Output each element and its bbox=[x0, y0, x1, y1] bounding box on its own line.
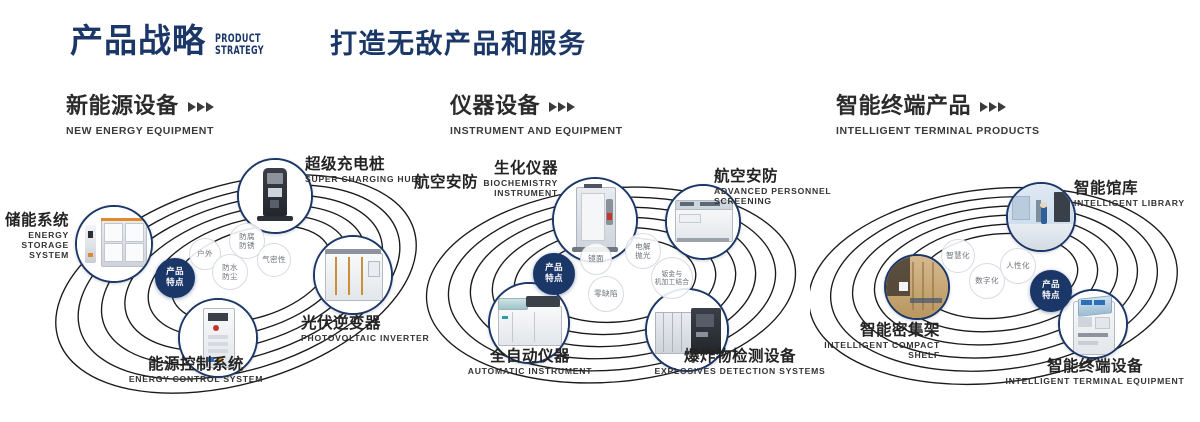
section-title-cn: 仪器设备 bbox=[450, 96, 540, 118]
chevrons-right-icon bbox=[188, 102, 214, 112]
page-slogan: 打造无敌产品和服务 bbox=[330, 30, 587, 60]
node-energy-storage-system[interactable] bbox=[75, 205, 153, 283]
node-photovoltaic-inverter[interactable] bbox=[313, 235, 393, 315]
feature-bubble: 智慧化 bbox=[941, 239, 975, 273]
section-title-cn: 智能终端产品 bbox=[836, 96, 971, 118]
feature-core-bubble: 产品 特点 bbox=[533, 253, 575, 295]
node-label-en: INTELLIGENT COMPACT SHELF bbox=[740, 341, 940, 360]
page-title-en: PRODUCT STRATEGY bbox=[215, 33, 264, 56]
label-intelligent-terminal-equipment: 智能终端设备 INTELLIGENT TERMINAL EQUIPMENT bbox=[990, 358, 1200, 387]
poster-header: 产品战略 PRODUCT STRATEGY bbox=[70, 24, 278, 57]
cluster-intelligent-terminal: 智能馆库 INTELLIGENT LIBRARY 智能密集架 INTELLIGE… bbox=[810, 150, 1200, 400]
node-intelligent-compact-shelf[interactable] bbox=[884, 254, 950, 320]
section-title-en: NEW ENERGY EQUIPMENT bbox=[66, 125, 214, 137]
node-label-en: ENERGY CONTROL SYSTEM bbox=[81, 375, 311, 385]
node-label-cn: 储能系统 bbox=[0, 212, 69, 229]
label-intelligent-library: 智能馆库 INTELLIGENT LIBRARY bbox=[1074, 180, 1200, 209]
node-intelligent-library[interactable] bbox=[1006, 182, 1076, 252]
node-label-cn: 智能馆库 bbox=[1074, 180, 1200, 197]
self-service-kiosk-icon bbox=[1060, 291, 1126, 357]
charging-pile-icon bbox=[239, 160, 311, 232]
node-label-en: PHOTOVOLTAIC INVERTER bbox=[301, 334, 435, 344]
node-label-cn: 智能终端设备 bbox=[990, 358, 1200, 375]
node-label-cn: 光伏逆变器 bbox=[301, 315, 435, 332]
label-energy-storage-system: 储能系统 ENERGY STORAGE SYSTEM bbox=[0, 212, 69, 260]
label-photovoltaic-inverter: 光伏逆变器 PHOTOVOLTAIC INVERTER bbox=[301, 315, 435, 344]
pv-inverter-cabinet-icon bbox=[315, 237, 391, 313]
smart-library-room-icon bbox=[1008, 184, 1074, 250]
section-title-en: INTELLIGENT TERMINAL PRODUCTS bbox=[836, 125, 1040, 137]
energy-storage-cabinet-icon bbox=[77, 207, 151, 281]
node-label-cn: 智能密集架 bbox=[740, 322, 940, 339]
node-label-cn: 能源控制系统 bbox=[81, 356, 311, 373]
cluster-new-energy: 储能系统 ENERGY STORAGE SYSTEM 超级充电桩 SUPER C… bbox=[55, 150, 435, 400]
compact-shelving-icon bbox=[886, 256, 948, 318]
node-label-cn: 航空安防 bbox=[396, 174, 478, 191]
poster-canvas: 产品战略 PRODUCT STRATEGY 打造无敌产品和服务 新能源设备 NE… bbox=[0, 0, 1200, 422]
section-title-intelligent-terminal: 智能终端产品 INTELLIGENT TERMINAL PRODUCTS bbox=[836, 96, 1040, 137]
cluster-instrument: 生化仪器 BIOCHEMISTRY INSTRUMENT 航空安防 航空安防 A… bbox=[420, 150, 810, 400]
feature-bubble: 零缺陷 bbox=[588, 276, 624, 312]
chevrons-right-icon bbox=[980, 102, 1006, 112]
feature-bubble: 钣金与 机加工结合 bbox=[651, 257, 693, 299]
node-label-en: ENERGY STORAGE SYSTEM bbox=[0, 231, 69, 260]
feature-bubble: 镜面 bbox=[580, 243, 612, 275]
section-title-cn: 新能源设备 bbox=[66, 96, 179, 118]
label-aviation-security-left: 航空安防 bbox=[396, 174, 478, 191]
label-energy-control-system: 能源控制系统 ENERGY CONTROL SYSTEM bbox=[81, 356, 311, 385]
feature-bubble: 气密性 bbox=[257, 243, 291, 277]
page-title: 产品战略 bbox=[70, 24, 206, 57]
node-label-en: AUTOMATIC INSTRUMENT bbox=[415, 367, 645, 377]
section-title-instrument: 仪器设备 INSTRUMENT AND EQUIPMENT bbox=[450, 96, 623, 137]
node-label-cn: 全自动仪器 bbox=[415, 348, 645, 365]
feature-core-bubble: 产品 特点 bbox=[1030, 270, 1072, 312]
label-automatic-instrument: 全自动仪器 AUTOMATIC INSTRUMENT bbox=[415, 348, 645, 377]
section-title-en: INSTRUMENT AND EQUIPMENT bbox=[450, 125, 623, 137]
label-intelligent-compact-shelf: 智能密集架 INTELLIGENT COMPACT SHELF bbox=[740, 322, 940, 361]
feature-bubble: 人性化 bbox=[1000, 248, 1036, 284]
chevrons-right-icon bbox=[549, 102, 575, 112]
node-label-en: INTELLIGENT LIBRARY bbox=[1074, 199, 1200, 209]
feature-core-bubble: 产品 特点 bbox=[155, 258, 195, 298]
node-label-en: INTELLIGENT TERMINAL EQUIPMENT bbox=[990, 377, 1200, 387]
section-title-new-energy: 新能源设备 NEW ENERGY EQUIPMENT bbox=[66, 96, 214, 137]
feature-bubble: 防水 防尘 bbox=[212, 254, 248, 290]
